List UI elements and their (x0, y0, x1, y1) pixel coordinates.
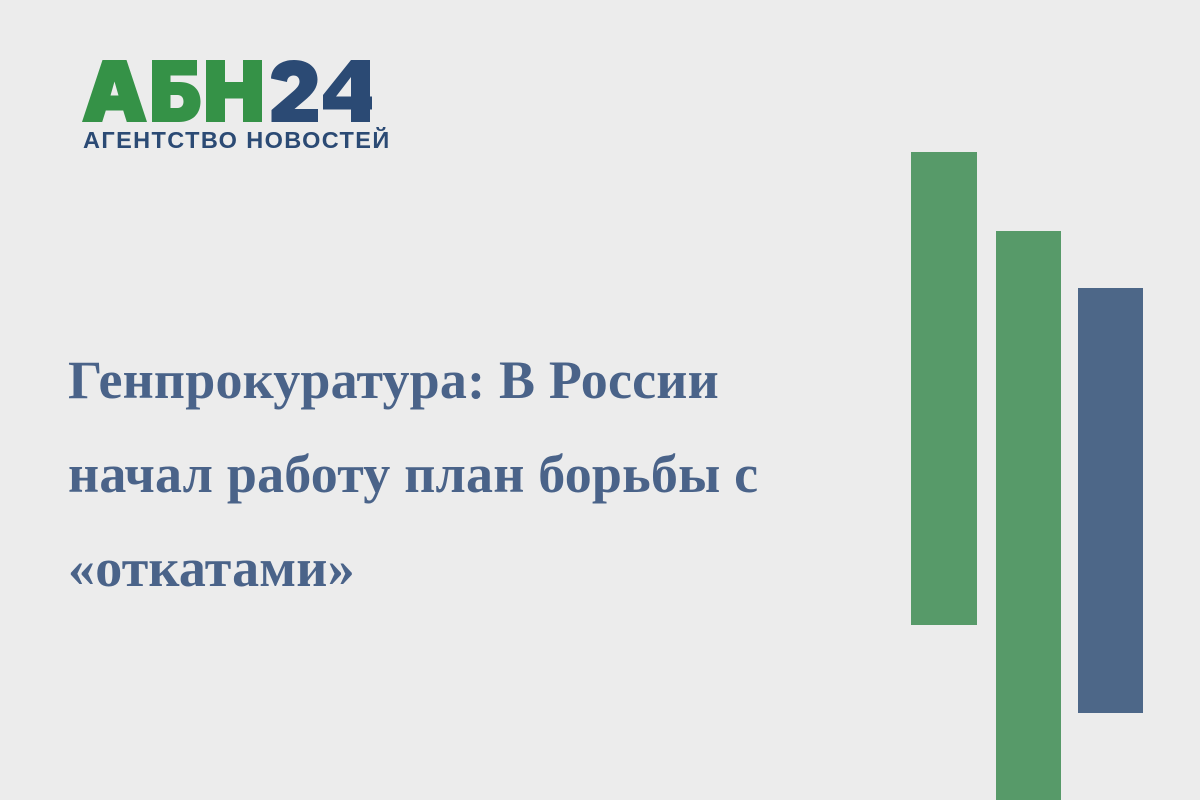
chart-bar-2 (996, 231, 1061, 800)
abn24-logo-icon (82, 60, 372, 122)
chart-bar-1 (911, 152, 977, 625)
page-title: Генпрокуратура: В России начал работу пл… (68, 333, 858, 615)
logo-tagline: АГЕНТСТВО НОВОСТЕЙ (83, 129, 391, 153)
headline-line-1: Генпрокуратура: В России (68, 333, 858, 427)
headline-line-3: «откатами» (68, 521, 858, 615)
site-logo[interactable]: АГЕНТСТВО НОВОСТЕЙ (82, 60, 372, 160)
news-card: АГЕНТСТВО НОВОСТЕЙ Генпрокуратура: В Рос… (0, 0, 1200, 800)
chart-bar-3 (1078, 288, 1143, 713)
headline-line-2: начал работу план борьбы с (68, 427, 858, 521)
